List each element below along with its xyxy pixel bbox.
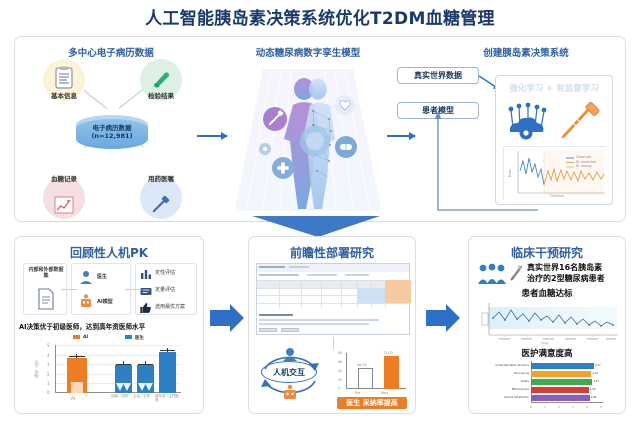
clipboard-icon [54, 66, 74, 90]
table-grid [257, 280, 409, 308]
glucose-timeseries-chart: Time [475, 299, 621, 345]
y-tick: 40 [338, 369, 342, 373]
legend-swatch-ai [73, 335, 80, 339]
chart-ylabel: Dose [508, 169, 512, 177]
glucose-chart-title: 患者血糖达标 [469, 287, 625, 299]
hbar-value: 4.06 [591, 396, 597, 399]
adoption-bar-chart: 46.25 73.00 Pre Post 80 60 40 20 0 [333, 349, 409, 401]
retrospective-panel: 回顾性人机PK 内部和外部数据集 医生 AI模型 [14, 236, 204, 414]
ai-robot-icon [284, 385, 296, 399]
neural-network-icon [504, 102, 548, 140]
legend-swatch-doctor [125, 335, 132, 339]
hbar-understandable [531, 363, 594, 369]
x-tick-label: 主治／主任 [133, 395, 153, 399]
twin-section-title: 动态糖尿病数字孪生模型 [219, 45, 397, 59]
retrospective-caption: AI决策优于初级医师，达到高年资医师水平 [19, 321, 145, 331]
bar-doctor-1 [115, 365, 132, 393]
cds-interface-table [256, 263, 410, 335]
x-tick-label: Pre [355, 391, 360, 395]
y-tick: 4 [47, 353, 50, 358]
insulin-pen-icon [509, 262, 525, 282]
digital-twin-illustration [233, 61, 383, 216]
hbar-label: Understandable decisions [495, 364, 529, 367]
people-icon [477, 263, 507, 285]
stats-icon [140, 285, 152, 296]
syringe-icon [150, 193, 172, 215]
emr-section-title: 多中心电子病历数据 [23, 45, 199, 59]
satisfaction-bar-chart: Understandable decisions 4.37 Time savin… [475, 359, 621, 409]
rl-model-card: 强化学习 + 有监督学习 [495, 75, 613, 205]
flow-connector-2 [125, 289, 141, 290]
y-tick: 5 [47, 343, 50, 348]
hbar-label: Safety [521, 380, 529, 383]
actor-label-doctor: 医生 [97, 273, 107, 280]
bar-doctor-2 [137, 365, 154, 393]
adoption-rate-pill: 医生 采纳率提高 [337, 397, 407, 409]
arrow-prospective-to-clinical [426, 310, 446, 326]
eval-label-quantitative: 定量评估 [155, 286, 175, 293]
y-tick: 0 [47, 390, 50, 395]
bar-value-pre: 46.25 [357, 363, 367, 367]
x-tick-label: AI [71, 396, 75, 401]
syringe-badge-icon [263, 107, 287, 131]
bar-chart-icon [140, 268, 152, 279]
x-tick: 0 [530, 405, 532, 409]
plus-badge-icon [272, 157, 294, 179]
hbar-value: 4.00 [590, 388, 596, 391]
hbar-effectiveness [531, 387, 589, 393]
hbar-safety [531, 379, 592, 385]
line-chart-icon [53, 195, 75, 215]
chart-legend-rl-predicted: RL predicted [576, 160, 596, 164]
emr-database-cylinder: 电子病历数据 (n=12,981) [76, 115, 148, 149]
emr-node-medication-order [140, 177, 182, 219]
test-tube-icon [150, 68, 172, 90]
emr-node-label: 用药医嘱 [140, 173, 182, 183]
hbar-label: Overall satisfaction [504, 396, 529, 399]
ai-robot-icon [79, 294, 93, 309]
flow-eval-box: 定性评估 定量评估 选用最优方案 [135, 263, 197, 315]
chart-xlabel: Timeline [550, 194, 564, 198]
pk-plot-area [55, 345, 181, 393]
y-axis-label: 评分（分） [34, 358, 40, 378]
top-section-panel: 多中心电子病历数据 基本信息 检验结果 [14, 36, 626, 222]
emr-node-label: 基本信息 [43, 90, 85, 100]
pill-badge-icon [335, 136, 357, 158]
hbar-row: Time saving 4.19 [531, 371, 603, 377]
pk-bar-chart: AI 医生 [33, 333, 187, 409]
rl-card-title: 强化学习 + 有监督学习 [496, 82, 612, 94]
glucose-xlabel: Time [541, 341, 548, 345]
x-tick-label: 高年资／主任医师 [155, 395, 179, 402]
prospective-panel: 前瞻性部署研究 [248, 236, 416, 414]
doctor-icon [79, 270, 93, 284]
hbar-row: Safety 4.25 [531, 379, 603, 385]
doctor-icon [283, 348, 297, 361]
chart-legend-observed: Observed [576, 155, 591, 159]
x-tick-label: Post [381, 391, 388, 395]
retrospective-panel-title: 回顾性人机PK [15, 244, 203, 261]
hbar-label: Effectiveness [512, 388, 529, 391]
bar-doctor-3 [159, 352, 176, 393]
bar-ai [67, 358, 87, 394]
x-tick: 3 [572, 405, 574, 409]
x-tick: 5 [600, 405, 602, 409]
emr-database-label-2: (n=12,981) [91, 132, 132, 140]
heart-badge-icon [335, 95, 355, 115]
legend-label-doctor: 医生 [135, 335, 144, 341]
cohort-text-line1: 真实世界16名胰岛素 [527, 262, 602, 273]
section-connector-swoosh [252, 216, 382, 238]
clinical-panel: 临床干预研究 真实世界16名胰岛素 治疗的2型糖尿病患者 患者血糖达标 [468, 236, 626, 414]
hbar-row: Effectiveness 4.00 [531, 387, 603, 393]
satisfaction-chart-title: 医护满意度高 [469, 347, 625, 359]
system-section-title: 创建胰岛素决策系统 [435, 45, 617, 59]
hbar-label: Time saving [513, 372, 529, 375]
interaction-cycle-icon [255, 345, 325, 403]
y-tick: 60 [338, 360, 342, 364]
arrow-twin-to-system [387, 135, 415, 137]
spoke-line [83, 90, 107, 109]
satisfaction-plot-area: Understandable decisions 4.37 Time savin… [531, 361, 603, 403]
y-tick: 2 [47, 372, 50, 377]
adoption-plot-area: 46.25 73.00 [346, 353, 406, 389]
prospective-panel-title: 前瞻性部署研究 [249, 244, 415, 261]
source-label: 内部和外部数据集 [27, 267, 65, 280]
flow-actors-box: 医生 AI模型 [71, 263, 131, 315]
clinical-panel-title: 临床干预研究 [469, 244, 625, 261]
chart-legend-rl-dosing: RL dosing [576, 164, 592, 168]
arrow-emr-to-twin [197, 135, 227, 137]
hbar-value: 4.37 [595, 364, 601, 367]
hbar-overall [531, 395, 590, 401]
bar-value-post: 73.00 [383, 351, 393, 355]
flow-connector-1 [61, 289, 77, 290]
x-tick: 2 [558, 405, 560, 409]
emr-node-glucose-record [43, 177, 85, 219]
actor-label-ai: AI模型 [97, 298, 113, 305]
bar-post [384, 356, 399, 389]
hbar-row: Overall satisfaction 4.06 [531, 395, 603, 401]
thumbs-up-icon [140, 302, 152, 313]
infographic-root: 人工智能胰岛素决策系统优化T2DM血糖管理 多中心电子病历数据 基本信息 [0, 0, 640, 426]
y-tick: 20 [338, 378, 342, 382]
hbar-row: Understandable decisions 4.37 [531, 363, 603, 369]
y-tick: 80 [338, 351, 342, 355]
x-tick: 1 [544, 405, 546, 409]
dot-badge-icon [259, 143, 271, 155]
legend-label-ai: AI [83, 335, 88, 340]
x-tick: 4 [586, 405, 588, 409]
y-tick: 3 [47, 362, 50, 367]
document-icon [37, 288, 55, 310]
page-title: 人工智能胰岛素决策系统优化T2DM血糖管理 [0, 4, 640, 29]
y-tick: 0 [338, 386, 340, 390]
hbar-value: 4.25 [593, 380, 599, 383]
rl-timeseries-chart: Observed RL predicted RL dosing Timeline… [503, 146, 607, 200]
tag-real-world-data: 真实世界数据 [397, 67, 479, 84]
emr-node-label: 血糖记录 [43, 173, 85, 183]
eval-label-best-plan: 选用最优方案 [155, 303, 185, 310]
syringe-icon [558, 100, 604, 142]
cohort-text-line2: 治疗的2型糖尿病患者 [527, 273, 605, 284]
emr-node-label: 检验结果 [140, 90, 182, 100]
x-tick-label: 初级／住院 [111, 395, 131, 399]
eval-label-qualitative: 定性评估 [155, 269, 175, 276]
bar-pre [358, 368, 373, 389]
hbar-value: 4.19 [592, 372, 598, 375]
emr-database-label-1: 电子病历数据 [93, 124, 132, 132]
y-tick: 1 [47, 381, 50, 386]
arrow-retrospective-to-prospective [210, 310, 230, 326]
hbar-time-saving [531, 371, 591, 377]
